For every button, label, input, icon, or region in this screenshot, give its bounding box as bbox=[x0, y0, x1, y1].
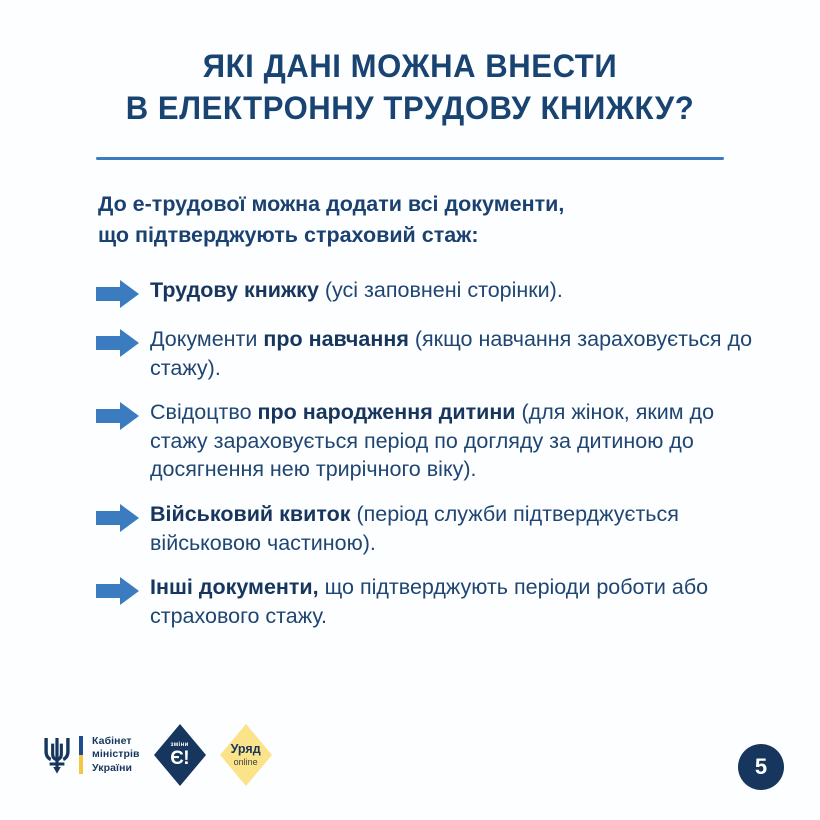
arrow-right-icon bbox=[96, 401, 140, 431]
flag-divider bbox=[79, 736, 83, 774]
list-item-text: Документи про навчання (якщо навчання за… bbox=[150, 325, 755, 382]
divider bbox=[96, 157, 724, 160]
list-item: Інші документи, що підтверджують періоди… bbox=[96, 573, 756, 630]
uryad-label: Уряд online bbox=[231, 743, 261, 767]
list-item-text: Трудову книжку (усі заповнені сторінки). bbox=[150, 276, 755, 305]
list-item: Трудову книжку (усі заповнені сторінки). bbox=[96, 276, 756, 309]
list-item-bold: Військовий квиток bbox=[150, 502, 350, 526]
slide-canvas: ЯКІ ДАНІ МОЖНА ВНЕСТИ В ЕЛЕКТРОННУ ТРУДО… bbox=[0, 0, 820, 820]
subtitle-line-2: що підтверджують страховий стаж: bbox=[98, 220, 738, 251]
uryad-main-text: Уряд bbox=[231, 743, 261, 756]
kmu-line-3: України bbox=[92, 762, 132, 774]
arrow-right-icon bbox=[96, 328, 140, 358]
cabinet-of-ministers-logo: Кабінет міністрів України bbox=[42, 730, 140, 780]
kmu-line-2: міністрів bbox=[92, 748, 140, 760]
list-item: Військовий квиток (період служби підтвер… bbox=[96, 500, 756, 557]
list-item-text: Свідоцтво про народження дитини (для жін… bbox=[150, 398, 755, 484]
title-line-2: В ЕЛЕКТРОННУ ТРУДОВУ КНИЖКУ? bbox=[12, 88, 807, 130]
uryad-online-logo: Уряд online bbox=[220, 724, 272, 786]
cabinet-of-ministers-label: Кабінет міністрів України bbox=[92, 735, 140, 776]
list-item-lead: Свідоцтво bbox=[150, 400, 258, 424]
arrow-right-icon bbox=[96, 503, 140, 533]
list-item-text: Військовий квиток (період служби підтвер… bbox=[150, 500, 755, 557]
list-item-lead: Документи bbox=[150, 327, 263, 351]
page-title: ЯКІ ДАНІ МОЖНА ВНЕСТИ В ЕЛЕКТРОННУ ТРУДО… bbox=[0, 46, 820, 129]
footer-logos: Кабінет міністрів України зміни Є! bbox=[42, 726, 272, 784]
subtitle-line-1: До е-трудової можна додати всі документи… bbox=[98, 189, 738, 220]
subtitle: До е-трудової можна додати всі документи… bbox=[98, 189, 738, 250]
kmu-line-1: Кабінет bbox=[92, 735, 132, 747]
page-number-badge: 5 bbox=[738, 744, 784, 790]
zminy-main-text: Є! bbox=[170, 749, 189, 768]
list-item-rest: (усі заповнені сторінки). bbox=[319, 278, 563, 302]
list-item-bold: Трудову книжку bbox=[150, 278, 319, 302]
zminy-ye-logo: зміни Є! bbox=[154, 724, 206, 786]
list-item-bold: Інші документи, bbox=[150, 575, 319, 599]
arrow-right-icon bbox=[96, 576, 140, 606]
bullet-list: Трудову книжку (усі заповнені сторінки).… bbox=[96, 276, 756, 630]
list-item-bold: про навчання bbox=[263, 327, 409, 351]
zminy-label: зміни Є! bbox=[170, 742, 189, 768]
trident-icon bbox=[42, 734, 72, 776]
list-item-bold: про народження дитини bbox=[258, 400, 516, 424]
arrow-right-icon bbox=[96, 279, 140, 309]
uryad-sub-text: online bbox=[231, 758, 261, 767]
title-line-1: ЯКІ ДАНІ МОЖНА ВНЕСТИ bbox=[12, 46, 807, 88]
list-item: Документи про навчання (якщо навчання за… bbox=[96, 325, 756, 382]
list-item: Свідоцтво про народження дитини (для жін… bbox=[96, 398, 756, 484]
list-item-text: Інші документи, що підтверджують періоди… bbox=[150, 573, 755, 630]
